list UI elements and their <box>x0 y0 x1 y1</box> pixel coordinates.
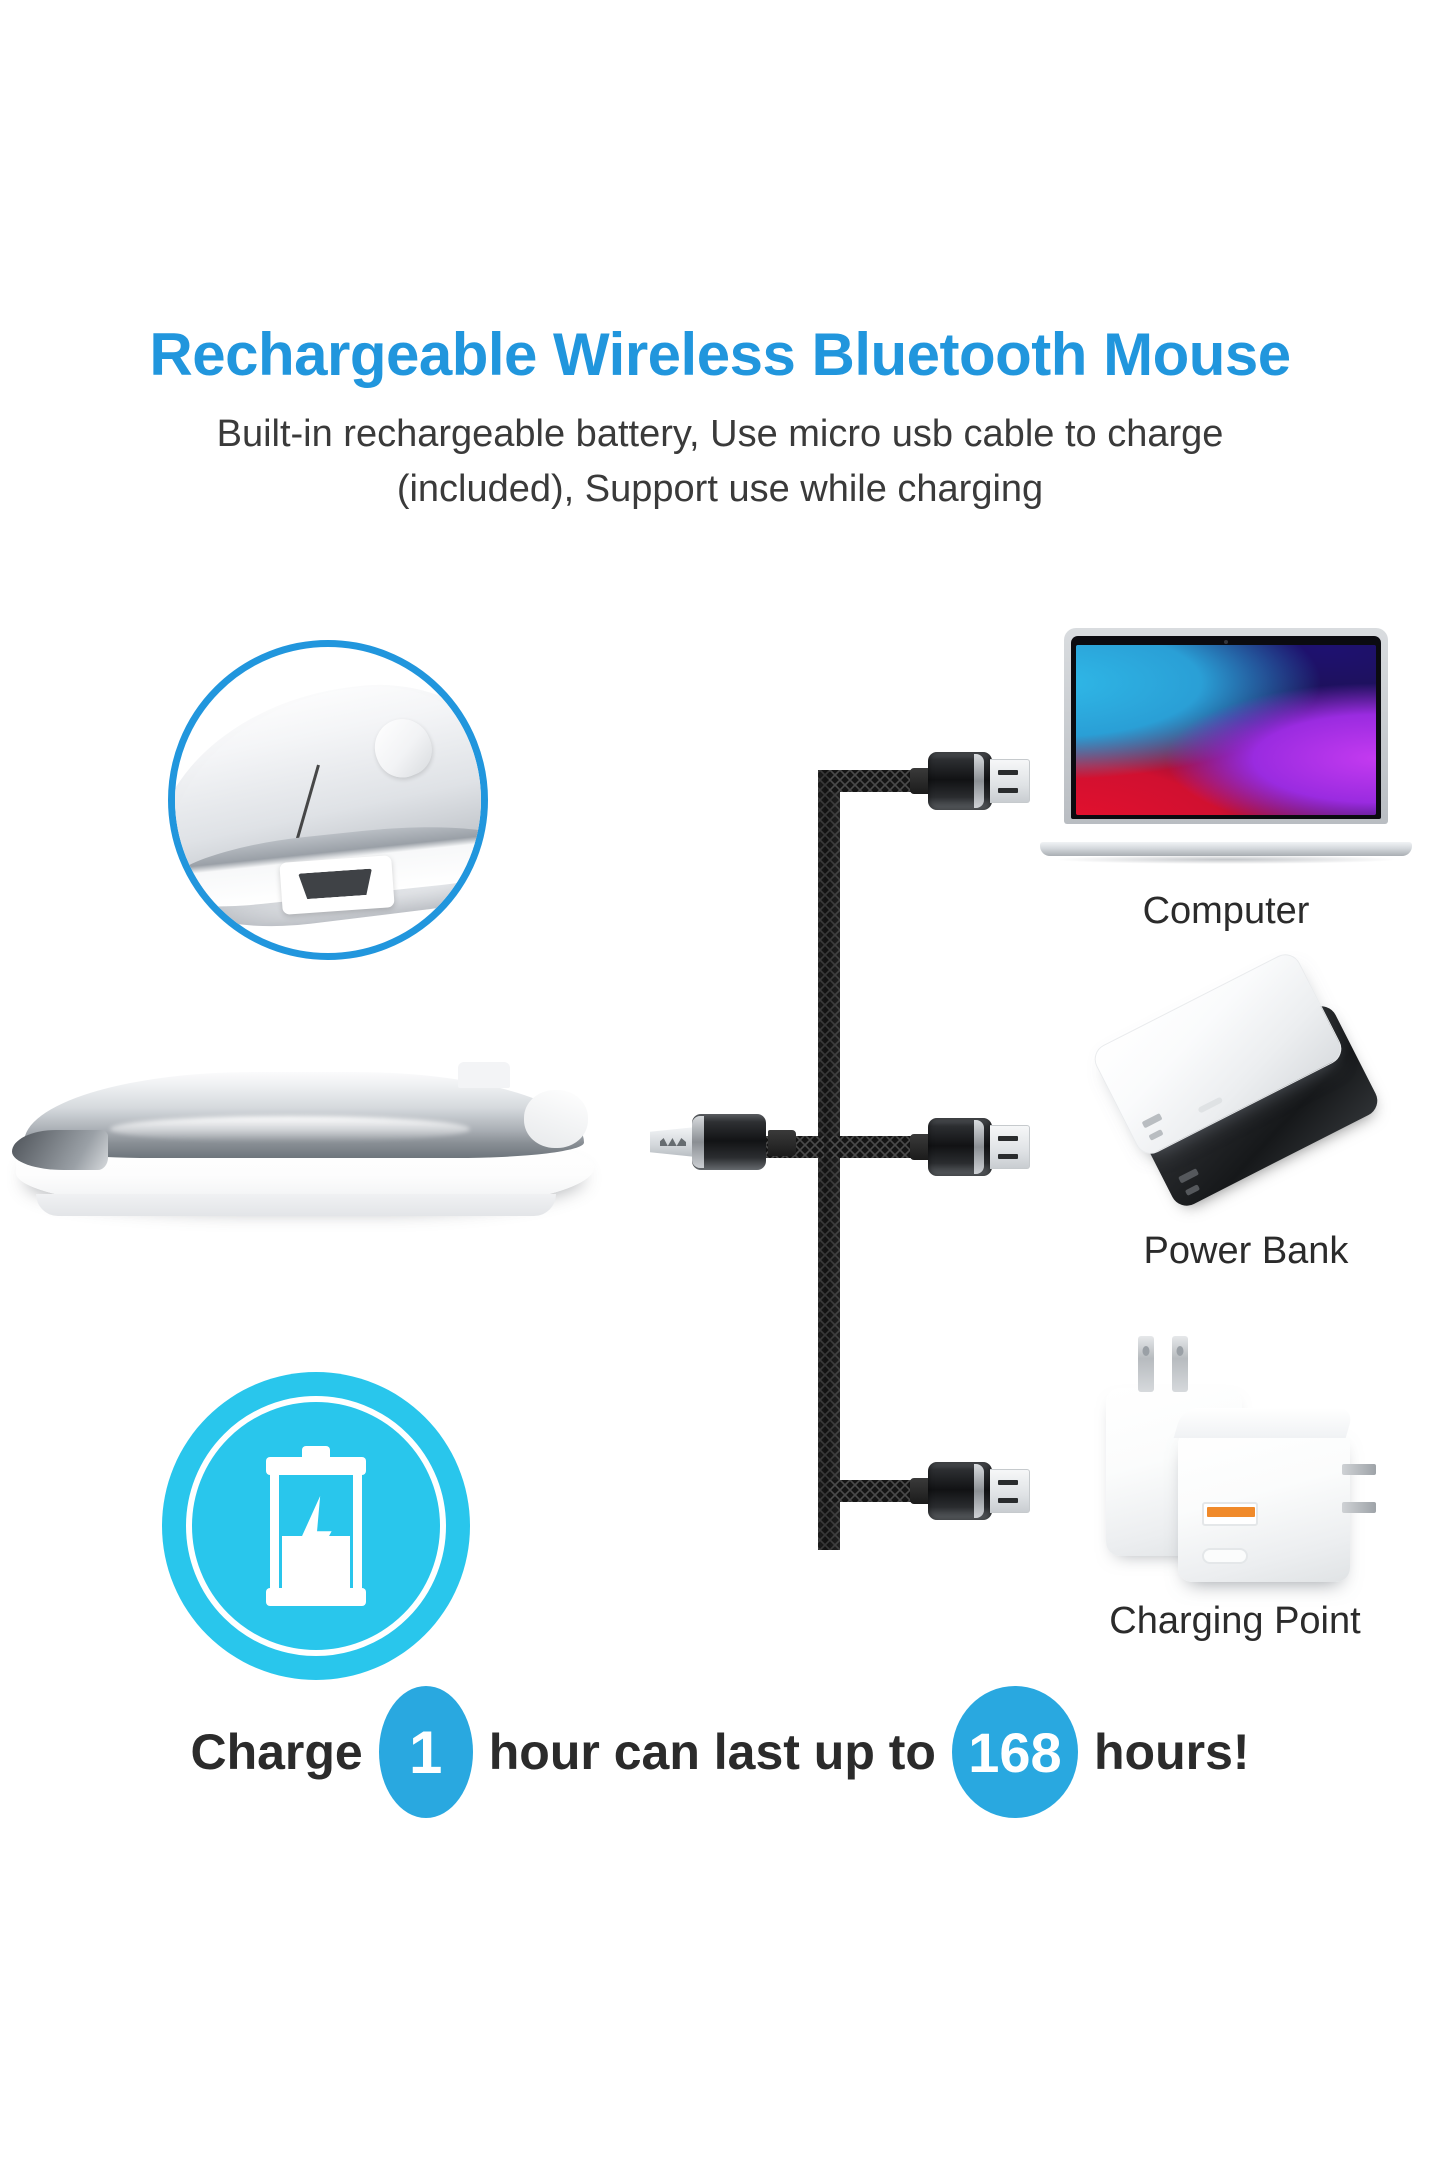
plug-prong-icon <box>1342 1464 1376 1475</box>
charge-hours-badge: 1 <box>379 1686 473 1818</box>
wall-charger-front <box>1178 1430 1350 1582</box>
usb-connector-shell <box>928 752 992 810</box>
battery-wall-left <box>270 1473 279 1590</box>
usb-connector-tip <box>990 759 1030 803</box>
battery-cap-top <box>266 1457 366 1475</box>
mouse-front-tip <box>12 1130 108 1170</box>
power-bank-micro-port <box>1148 1129 1163 1141</box>
subtitle-line-1: Built-in rechargeable battery, Use micro… <box>0 407 1440 462</box>
usb-a-connector-powerbank <box>910 1118 1030 1176</box>
usb-a-connector-charger <box>910 1462 1030 1520</box>
mouse-highlight <box>110 1116 470 1142</box>
page-title: Rechargeable Wireless Bluetooth Mouse <box>0 320 1440 389</box>
micro-usb-connector <box>650 1114 790 1170</box>
banner-text-after: hours! <box>1094 1723 1250 1781</box>
plug-prong-icon <box>1172 1336 1188 1392</box>
page-subtitle: Built-in rechargeable battery, Use micro… <box>0 407 1440 517</box>
battery-wall-right <box>353 1473 362 1590</box>
wall-charger-top-face <box>1174 1408 1355 1438</box>
computer-laptop-image <box>1040 628 1412 868</box>
power-bank-usb-port <box>1142 1113 1163 1128</box>
charger-usb-c-port <box>1202 1548 1248 1564</box>
power-bank-usb-port <box>1178 1168 1199 1183</box>
power-bank-micro-port <box>1185 1184 1200 1196</box>
power-bank-image <box>1098 972 1408 1192</box>
cable-vertical-trunk <box>818 770 840 1550</box>
device-label-computer: Computer <box>1040 890 1412 933</box>
device-label-power-bank: Power Bank <box>1060 1230 1432 1273</box>
plug-prong-icon <box>1342 1502 1376 1513</box>
micro-usb-port-opening <box>298 869 374 900</box>
usb-connector-shell <box>928 1462 992 1520</box>
laptop-bezel <box>1071 636 1381 819</box>
micro-usb-neck <box>768 1130 796 1156</box>
wall-charger-image <box>1082 1326 1412 1586</box>
wireless-mouse-product-image <box>6 1034 606 1234</box>
usb-connector-shell <box>928 1118 992 1176</box>
battery-charging-badge <box>162 1372 470 1680</box>
charger-usb-a-port <box>1202 1502 1258 1526</box>
banner-text-before: Charge <box>190 1723 362 1781</box>
lasting-hours-badge: 168 <box>952 1686 1078 1818</box>
header-block: Rechargeable Wireless Bluetooth Mouse Bu… <box>0 320 1440 517</box>
micro-usb-port-icon <box>279 855 394 915</box>
mouse-rear-body <box>524 1090 588 1148</box>
micro-usb-shell <box>692 1114 766 1170</box>
usb-connector-tip <box>990 1125 1030 1169</box>
mouse-rear-button <box>458 1062 510 1088</box>
laptop-base <box>1040 842 1412 856</box>
laptop-lid <box>1064 628 1388 824</box>
usb-a-connector-computer <box>910 752 1030 810</box>
mouse-foot <box>36 1194 556 1216</box>
laptop-shadow <box>1058 855 1394 864</box>
device-label-charging-point: Charging Point <box>1030 1600 1440 1643</box>
laptop-camera-icon <box>1224 640 1228 644</box>
micro-usb-tip <box>650 1127 696 1157</box>
banner-text-middle: hour can last up to <box>489 1723 936 1781</box>
plug-prong-icon <box>1138 1336 1154 1392</box>
mouse-port-closeup-circle <box>168 640 488 960</box>
battery-charging-icon <box>266 1446 366 1606</box>
laptop-screen-wallpaper <box>1076 645 1376 815</box>
subtitle-line-2: (included), Support use while charging <box>0 462 1440 517</box>
power-bank-brand-mark <box>1197 1096 1223 1113</box>
usb-connector-tip <box>990 1469 1030 1513</box>
battery-life-banner: Charge 1 hour can last up to 168 hours! <box>0 1682 1440 1822</box>
battery-cap-bottom <box>266 1588 366 1606</box>
